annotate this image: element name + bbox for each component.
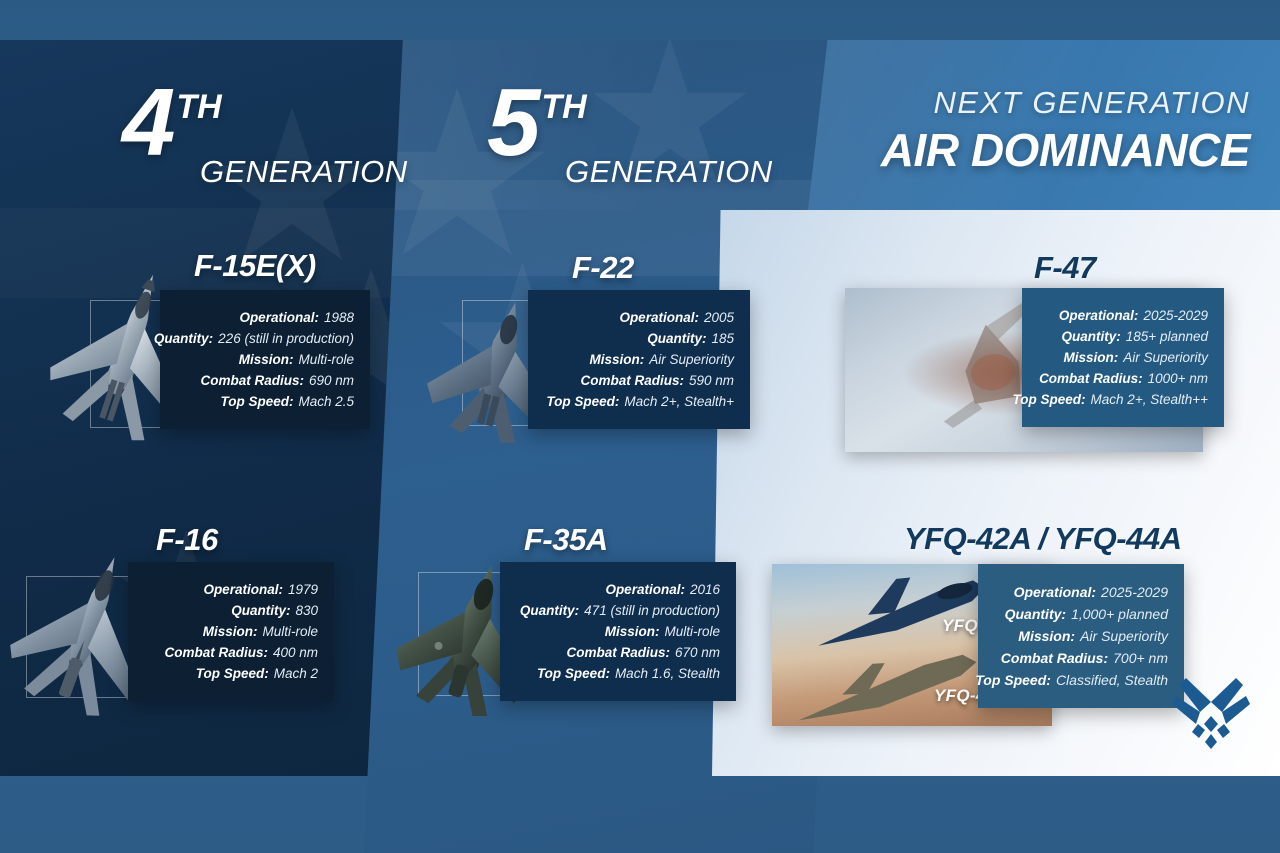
spec-row-top-speed: Top Speed: Mach 2.5 bbox=[174, 394, 354, 409]
aircraft-title-yfq: YFQ-42A / YFQ-44A bbox=[904, 521, 1181, 557]
spec-value-combat-radius: 400 nm bbox=[273, 645, 318, 660]
spec-value-top-speed: Mach 2+, Stealth++ bbox=[1091, 392, 1208, 407]
spec-value-combat-radius: 700+ nm bbox=[1113, 650, 1168, 666]
spec-value-combat-radius: 670 nm bbox=[675, 645, 720, 660]
spec-label-top-speed: Top Speed: bbox=[975, 672, 1051, 688]
spec-label-combat-radius: Combat Radius: bbox=[164, 645, 268, 660]
spec-label-combat-radius: Combat Radius: bbox=[566, 645, 670, 660]
generation-number: 4 bbox=[122, 82, 172, 164]
spec-value-quantity: 471 (still in production) bbox=[584, 603, 720, 618]
spec-value-mission: Multi-role bbox=[298, 352, 354, 367]
spec-value-quantity: 185+ planned bbox=[1126, 329, 1208, 344]
spec-row-quantity: Quantity: 185 bbox=[542, 331, 734, 346]
spec-label-operational: Operational: bbox=[1059, 308, 1139, 323]
ngad-subtitle: NEXT GENERATION bbox=[865, 85, 1250, 121]
spec-value-quantity: 1,000+ planned bbox=[1071, 606, 1168, 622]
generation-word: GENERATION bbox=[565, 154, 773, 190]
header-next-generation-air-dominance: NEXT GENERATION AIR DOMINANCE bbox=[865, 85, 1250, 177]
spec-value-combat-radius: 590 nm bbox=[689, 373, 734, 388]
spec-label-quantity: Quantity: bbox=[154, 331, 213, 346]
usaf-wings-logo bbox=[1168, 672, 1254, 750]
spec-label-combat-radius: Combat Radius: bbox=[1001, 650, 1108, 666]
spec-label-quantity: Quantity: bbox=[520, 603, 579, 618]
spec-value-top-speed: Mach 2.5 bbox=[298, 394, 354, 409]
spec-value-mission: Multi-role bbox=[262, 624, 318, 639]
spec-label-mission: Mission: bbox=[605, 624, 660, 639]
spec-label-top-speed: Top Speed: bbox=[546, 394, 619, 409]
spec-value-mission: Multi-role bbox=[664, 624, 720, 639]
spec-row-top-speed: Top Speed: Classified, Stealth bbox=[992, 672, 1168, 688]
spec-row-mission: Mission: Multi-role bbox=[514, 624, 720, 639]
generation-ordinal: TH bbox=[541, 88, 586, 127]
aircraft-title-f35a: F-35A bbox=[524, 522, 608, 558]
spec-row-mission: Mission: Air Superiority bbox=[992, 628, 1168, 644]
spec-value-operational: 1988 bbox=[324, 310, 354, 325]
spec-label-quantity: Quantity: bbox=[231, 603, 290, 618]
spec-label-operational: Operational: bbox=[239, 310, 319, 325]
spec-label-top-speed: Top Speed: bbox=[537, 666, 610, 681]
spec-row-combat-radius: Combat Radius: 590 nm bbox=[542, 373, 734, 388]
spec-row-mission: Mission: Air Superiority bbox=[1036, 350, 1208, 365]
spec-card-f35a: Operational: 2016 Quantity: 471 (still i… bbox=[500, 562, 736, 701]
spec-card-f16: Operational: 1979 Quantity: 830 Mission:… bbox=[128, 562, 334, 701]
spec-row-top-speed: Top Speed: Mach 2+, Stealth+ bbox=[542, 394, 734, 409]
header-4th-generation: 4TH GENERATION bbox=[122, 82, 408, 190]
spec-row-mission: Mission: Multi-role bbox=[142, 624, 318, 639]
spec-row-top-speed: Top Speed: Mach 2+, Stealth++ bbox=[1036, 392, 1208, 407]
spec-row-quantity: Quantity: 471 (still in production) bbox=[514, 603, 720, 618]
spec-value-operational: 2016 bbox=[690, 582, 720, 597]
aircraft-title-f47: F-47 bbox=[1034, 250, 1096, 286]
spec-row-operational: Operational: 1979 bbox=[142, 582, 318, 597]
spec-value-quantity: 830 bbox=[295, 603, 318, 618]
spec-row-operational: Operational: 2025-2029 bbox=[992, 584, 1168, 600]
spec-label-operational: Operational: bbox=[1014, 584, 1096, 600]
spec-value-operational: 2025-2029 bbox=[1101, 584, 1168, 600]
spec-label-mission: Mission: bbox=[1063, 350, 1118, 365]
spec-label-quantity: Quantity: bbox=[1062, 329, 1121, 344]
spec-row-operational: Operational: 2025-2029 bbox=[1036, 308, 1208, 323]
spec-value-operational: 1979 bbox=[288, 582, 318, 597]
spec-row-mission: Mission: Air Superiority bbox=[542, 352, 734, 367]
spec-row-combat-radius: Combat Radius: 670 nm bbox=[514, 645, 720, 660]
spec-label-top-speed: Top Speed: bbox=[196, 666, 269, 681]
spec-row-combat-radius: Combat Radius: 1000+ nm bbox=[1036, 371, 1208, 386]
aircraft-title-f22: F-22 bbox=[572, 250, 634, 286]
infographic-canvas: ★ ★ ★ ★ ★ ★ ★ 4TH GENERATION 5TH GENERAT… bbox=[0, 0, 1280, 853]
spec-value-combat-radius: 690 nm bbox=[309, 373, 354, 388]
spec-label-operational: Operational: bbox=[203, 582, 283, 597]
spec-value-top-speed: Classified, Stealth bbox=[1056, 672, 1168, 688]
spec-label-mission: Mission: bbox=[239, 352, 294, 367]
spec-label-operational: Operational: bbox=[605, 582, 685, 597]
spec-row-operational: Operational: 2005 bbox=[542, 310, 734, 325]
spec-label-mission: Mission: bbox=[1018, 628, 1075, 644]
spec-row-operational: Operational: 2016 bbox=[514, 582, 720, 597]
spec-row-quantity: Quantity: 1,000+ planned bbox=[992, 606, 1168, 622]
spec-card-yfq: Operational: 2025-2029 Quantity: 1,000+ … bbox=[978, 564, 1184, 708]
spec-value-mission: Air Superiority bbox=[1123, 350, 1208, 365]
ngad-title: AIR DOMINANCE bbox=[865, 123, 1250, 177]
aircraft-title-f15: F-15E(X) bbox=[194, 248, 316, 284]
spec-card-f22: Operational: 2005 Quantity: 185 Mission:… bbox=[528, 290, 750, 429]
spec-value-operational: 2025-2029 bbox=[1143, 308, 1208, 323]
spec-row-quantity: Quantity: 830 bbox=[142, 603, 318, 618]
spec-row-combat-radius: Combat Radius: 700+ nm bbox=[992, 650, 1168, 666]
aircraft-title-f16: F-16 bbox=[156, 522, 218, 558]
spec-card-f15: Operational: 1988 Quantity: 226 (still i… bbox=[160, 290, 370, 429]
spec-label-quantity: Quantity: bbox=[647, 331, 706, 346]
spec-row-operational: Operational: 1988 bbox=[174, 310, 354, 325]
generation-ordinal: TH bbox=[176, 88, 221, 127]
spec-row-top-speed: Top Speed: Mach 2 bbox=[142, 666, 318, 681]
spec-row-combat-radius: Combat Radius: 400 nm bbox=[142, 645, 318, 660]
spec-value-mission: Air Superiority bbox=[1080, 628, 1168, 644]
spec-row-mission: Mission: Multi-role bbox=[174, 352, 354, 367]
spec-label-quantity: Quantity: bbox=[1005, 606, 1066, 622]
spec-label-mission: Mission: bbox=[589, 352, 644, 367]
spec-value-combat-radius: 1000+ nm bbox=[1148, 371, 1208, 386]
spec-label-combat-radius: Combat Radius: bbox=[580, 373, 684, 388]
spec-card-f47: Operational: 2025-2029 Quantity: 185+ pl… bbox=[1022, 288, 1224, 427]
spec-label-top-speed: Top Speed: bbox=[1013, 392, 1086, 407]
spec-row-top-speed: Top Speed: Mach 1.6, Stealth bbox=[514, 666, 720, 681]
spec-value-top-speed: Mach 2 bbox=[274, 666, 318, 681]
spec-value-top-speed: Mach 2+, Stealth+ bbox=[624, 394, 734, 409]
spec-row-quantity: Quantity: 226 (still in production) bbox=[174, 331, 354, 346]
spec-row-combat-radius: Combat Radius: 690 nm bbox=[174, 373, 354, 388]
spec-value-mission: Air Superiority bbox=[649, 352, 734, 367]
header-5th-generation: 5TH GENERATION bbox=[487, 82, 773, 190]
spec-value-operational: 2005 bbox=[704, 310, 734, 325]
spec-label-mission: Mission: bbox=[203, 624, 258, 639]
spec-row-quantity: Quantity: 185+ planned bbox=[1036, 329, 1208, 344]
generation-word: GENERATION bbox=[200, 154, 408, 190]
spec-value-top-speed: Mach 1.6, Stealth bbox=[615, 666, 720, 681]
spec-label-combat-radius: Combat Radius: bbox=[1039, 371, 1143, 386]
spec-value-quantity: 185 bbox=[711, 331, 734, 346]
generation-number: 5 bbox=[487, 82, 537, 164]
spec-label-top-speed: Top Speed: bbox=[220, 394, 293, 409]
spec-label-operational: Operational: bbox=[619, 310, 699, 325]
spec-value-quantity: 226 (still in production) bbox=[218, 331, 354, 346]
spec-label-combat-radius: Combat Radius: bbox=[200, 373, 304, 388]
